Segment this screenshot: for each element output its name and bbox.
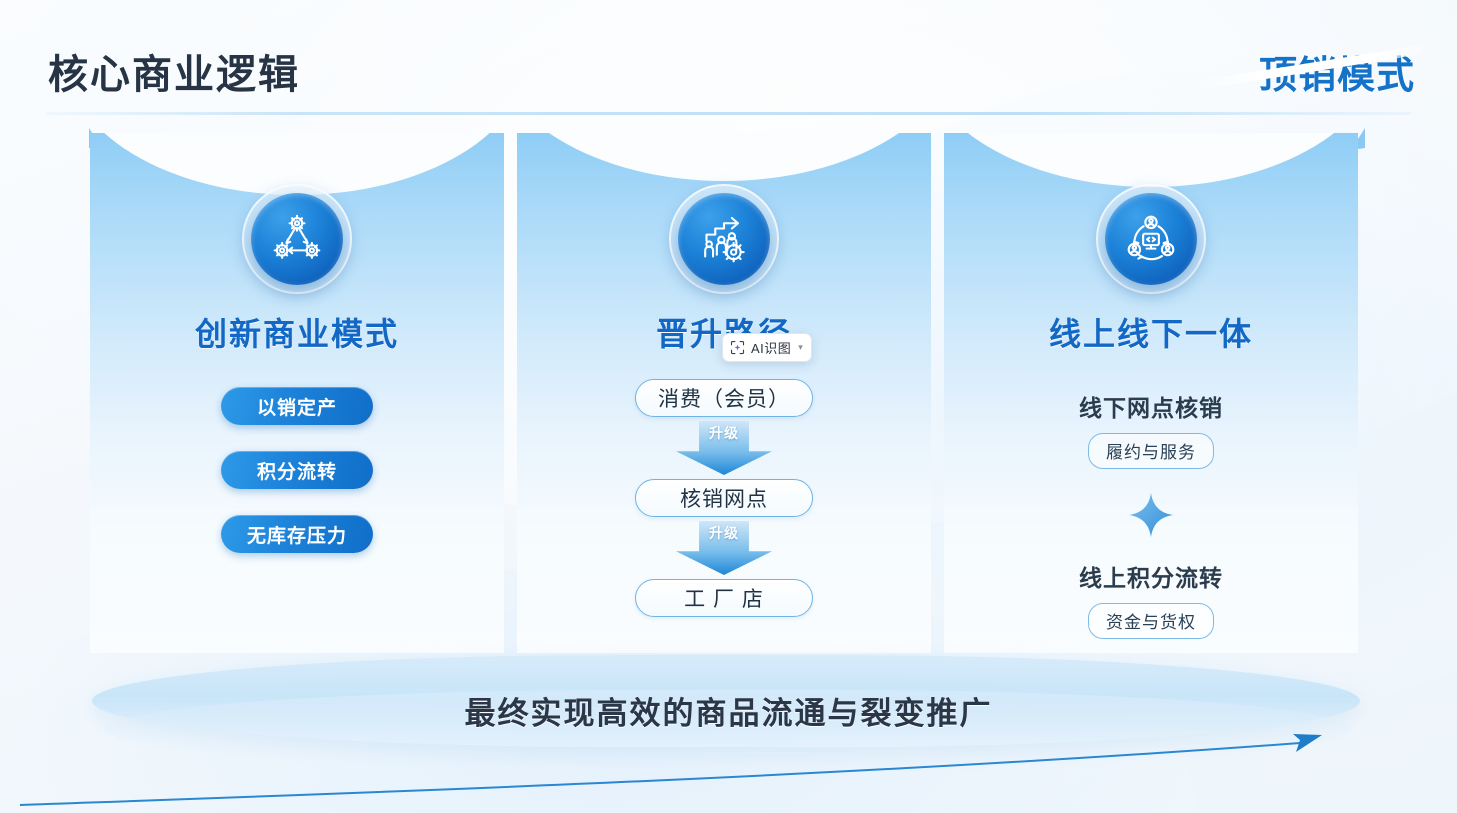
- page-header: 核心商业逻辑 顶销模式: [0, 0, 1457, 118]
- card1-title: 创新商业模式: [195, 309, 399, 355]
- card3-tag-2[interactable]: 资金与货权: [1088, 603, 1214, 639]
- card-promotion-path[interactable]: 晋升路径 消费（会员） 升级 核销网点 升级 工 厂 店: [517, 133, 931, 653]
- card2-flow: 消费（会员） 升级 核销网点 升级 工 厂 店: [635, 379, 813, 617]
- card1-pill-3[interactable]: 无库存压力: [221, 515, 373, 553]
- growth-people-gear-icon: [678, 193, 770, 285]
- header-divider: [46, 112, 1411, 115]
- sweep-arrow-icon: [0, 690, 1457, 813]
- card-online-offline-integration[interactable]: 线上线下一体 线下网点核销 履约与服务 线上积: [944, 133, 1358, 653]
- flow-node-3[interactable]: 工 厂 店: [635, 579, 813, 617]
- card1-pill-2[interactable]: 积分流转: [221, 451, 373, 489]
- card3-stack: 线下网点核销 履约与服务 线上积分流转 资金与货权: [1079, 389, 1223, 639]
- flow-arrow-2: 升级: [676, 521, 772, 575]
- card2-icon-badge: [678, 193, 770, 285]
- card-innovative-business-model[interactable]: 创新商业模式 以销定产 积分流转 无库存压力: [90, 133, 504, 653]
- ai-recognize-image-button[interactable]: AI识图 ▾: [722, 333, 812, 362]
- users-monitor-network-icon: [1105, 193, 1197, 285]
- ai-recognize-image-label: AI识图: [751, 338, 791, 357]
- card3-title: 线上线下一体: [1049, 309, 1253, 355]
- flow-arrow-1: 升级: [676, 421, 772, 475]
- flow-arrow-label-2: 升级: [676, 525, 772, 542]
- flow-arrow-label-1: 升级: [676, 425, 772, 442]
- flow-node-1[interactable]: 消费（会员）: [635, 379, 813, 417]
- card3-heading-2: 线上积分流转: [1079, 559, 1223, 593]
- flow-node-2[interactable]: 核销网点: [635, 479, 813, 517]
- card3-heading-1: 线下网点核销: [1079, 389, 1223, 423]
- card1-icon-badge: [251, 193, 343, 285]
- brand-logo: 顶销模式: [1215, 44, 1415, 102]
- sparkle-icon: [1127, 491, 1175, 539]
- ai-scan-icon: [730, 340, 745, 355]
- card3-icon-badge: [1105, 193, 1197, 285]
- cards-stage: 创新商业模式 以销定产 积分流转 无库存压力: [90, 133, 1358, 653]
- page-title: 核心商业逻辑: [48, 42, 300, 100]
- gear-network-icon: [251, 193, 343, 285]
- chevron-down-icon[interactable]: ▾: [798, 342, 803, 353]
- card1-pill-list: 以销定产 积分流转 无库存压力: [221, 387, 373, 553]
- card3-tag-1[interactable]: 履约与服务: [1088, 433, 1214, 469]
- card1-pill-1[interactable]: 以销定产: [221, 387, 373, 425]
